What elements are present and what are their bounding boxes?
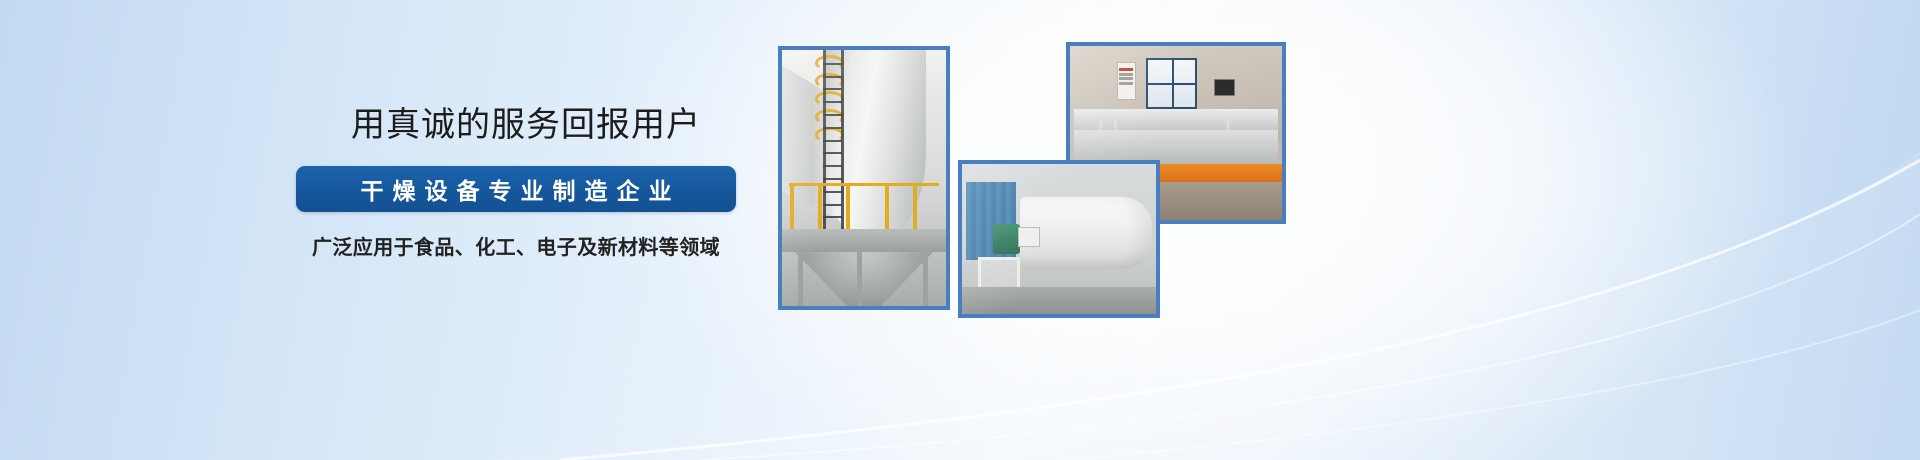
photo-card-spray-dryer-tower [778,46,950,310]
photo-horizontal-ribbon-mixer [962,164,1156,314]
photo-spray-dryer-tower [782,50,946,306]
status-badge-label: 干燥设备专业制造企业 [352,172,681,206]
photo-card-horizontal-ribbon-mixer [958,160,1160,318]
hero-text-block: 用真诚的服务回报用户 干燥设备专业制造企业 广泛应用于食品、化工、电子及新材料等… [296,104,756,260]
status-badge: 干燥设备专业制造企业 [296,166,736,212]
page-title: 用真诚的服务回报用户 [296,104,756,147]
page-subtitle: 广泛应用于食品、化工、电子及新材料等领域 [296,231,736,260]
hero-banner: 用真诚的服务回报用户 干燥设备专业制造企业 广泛应用于食品、化工、电子及新材料等… [0,0,1920,460]
